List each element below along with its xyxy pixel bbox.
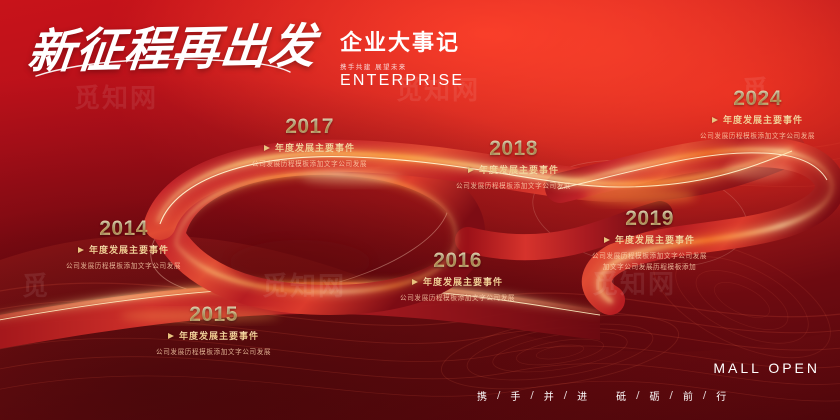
slogan-char: 进 [577, 388, 588, 403]
milestone-desc-line: 加文字公司发展历程模板添加 [592, 262, 707, 272]
milestone-desc-line: 公司发展历程模板添加文字公司发展 [592, 251, 707, 261]
milestone-desc-line: 公司发展历程模板添加文字公司发展 [66, 261, 181, 271]
milestone-2019: 2019 年度发展主要事件 公司发展历程模板添加文字公司发展 加文字公司发展历程… [592, 208, 707, 272]
milestone-year: 2014 [66, 218, 181, 239]
milestone-event: 年度发展主要事件 [700, 113, 815, 126]
milestone-year: 2018 [456, 138, 571, 159]
slogan-separator: / [497, 390, 501, 401]
milestone-event-label: 年度发展主要事件 [179, 329, 259, 342]
milestone-desc-line: 公司发展历程模板添加文字公司发展 [456, 181, 571, 191]
milestone-event: 年度发展主要事件 [66, 243, 181, 256]
milestone-year: 2017 [252, 116, 367, 137]
milestone-desc-line: 公司发展历程模板添加文字公司发展 [156, 347, 271, 357]
footer-slogan: 携 / 手 / 并 / 进 砥 / 砺 / 前 / 行 [470, 388, 734, 403]
watermark: 觅 [22, 266, 50, 303]
milestone-event-label: 年度发展主要事件 [723, 113, 803, 126]
milestone-2016: 2016 年度发展主要事件 公司发展历程模板添加文字公司发展 [400, 250, 515, 303]
calligraphy-title-wrap: 新征程再出发 [28, 26, 326, 73]
milestone-desc-line: 公司发展历程模板添加文字公司发展 [400, 293, 515, 303]
slogan-char: 砥 [616, 388, 627, 403]
triangle-marker-icon [412, 279, 418, 285]
milestone-year: 2015 [156, 304, 271, 325]
header-subtitle-cn: 企业大事记 [340, 32, 464, 56]
slogan-char: 手 [510, 388, 521, 403]
triangle-marker-icon [604, 237, 610, 243]
header-tagline: 携手共建 展望未来 [340, 61, 464, 71]
slogan-separator: / [670, 390, 674, 401]
milestone-event-label: 年度发展主要事件 [479, 163, 559, 176]
slogan-separator: / [636, 390, 640, 401]
milestone-2017: 2017 年度发展主要事件 公司发展历程模板添加文字公司发展 [252, 116, 367, 169]
milestone-year: 2016 [400, 250, 515, 271]
milestone-event-label: 年度发展主要事件 [89, 243, 169, 256]
milestone-desc-line: 公司发展历程模板添加文字公司发展 [252, 159, 367, 169]
header-right-block: 企业大事记 携手共建 展望未来 ENTERPRISE [340, 32, 464, 90]
triangle-marker-icon [468, 167, 474, 173]
slogan-char: 前 [683, 388, 694, 403]
milestone-event: 年度发展主要事件 [156, 329, 271, 342]
poster-header: 新征程再出发 企业大事记 携手共建 展望未来 ENTERPRISE [28, 26, 464, 90]
milestone-event-label: 年度发展主要事件 [615, 233, 695, 246]
milestone-year: 2019 [592, 208, 707, 229]
milestone-event: 年度发展主要事件 [592, 233, 707, 246]
milestone-2024: 2024 年度发展主要事件 公司发展历程模板添加文字公司发展 [700, 88, 815, 141]
calligraphy-title: 新征程再出发 [25, 23, 318, 76]
milestone-event-label: 年度发展主要事件 [275, 141, 355, 154]
milestone-2018: 2018 年度发展主要事件 公司发展历程模板添加文字公司发展 [456, 138, 571, 191]
milestone-2015: 2015 年度发展主要事件 公司发展历程模板添加文字公司发展 [156, 304, 271, 357]
triangle-marker-icon [712, 117, 718, 123]
watermark: 觅知网 [262, 266, 346, 303]
slogan-separator: / [564, 390, 568, 401]
slogan-char: 行 [716, 388, 727, 403]
milestone-event-label: 年度发展主要事件 [423, 275, 503, 288]
milestone-year: 2024 [700, 88, 815, 109]
slogan-separator: / [530, 390, 534, 401]
milestone-event: 年度发展主要事件 [252, 141, 367, 154]
mall-open-label: MALL OPEN [713, 360, 820, 376]
header-subtitle-en: ENTERPRISE [340, 72, 464, 90]
triangle-marker-icon [264, 145, 270, 151]
triangle-marker-icon [168, 333, 174, 339]
poster-canvas: 觅知网 觅知网 觅 觅知网 觅知网 觅 新征程再出发 企业大事记 携手共建 展望… [0, 0, 840, 420]
slogan-char: 携 [477, 388, 488, 403]
slogan-char: 并 [544, 388, 555, 403]
slogan-separator: / [703, 390, 707, 401]
milestone-event: 年度发展主要事件 [456, 163, 571, 176]
triangle-marker-icon [78, 247, 84, 253]
slogan-char: 砺 [650, 388, 661, 403]
milestone-desc-line: 公司发展历程模板添加文字公司发展 [700, 131, 815, 141]
milestone-event: 年度发展主要事件 [400, 275, 515, 288]
milestone-2014: 2014 年度发展主要事件 公司发展历程模板添加文字公司发展 [66, 218, 181, 271]
